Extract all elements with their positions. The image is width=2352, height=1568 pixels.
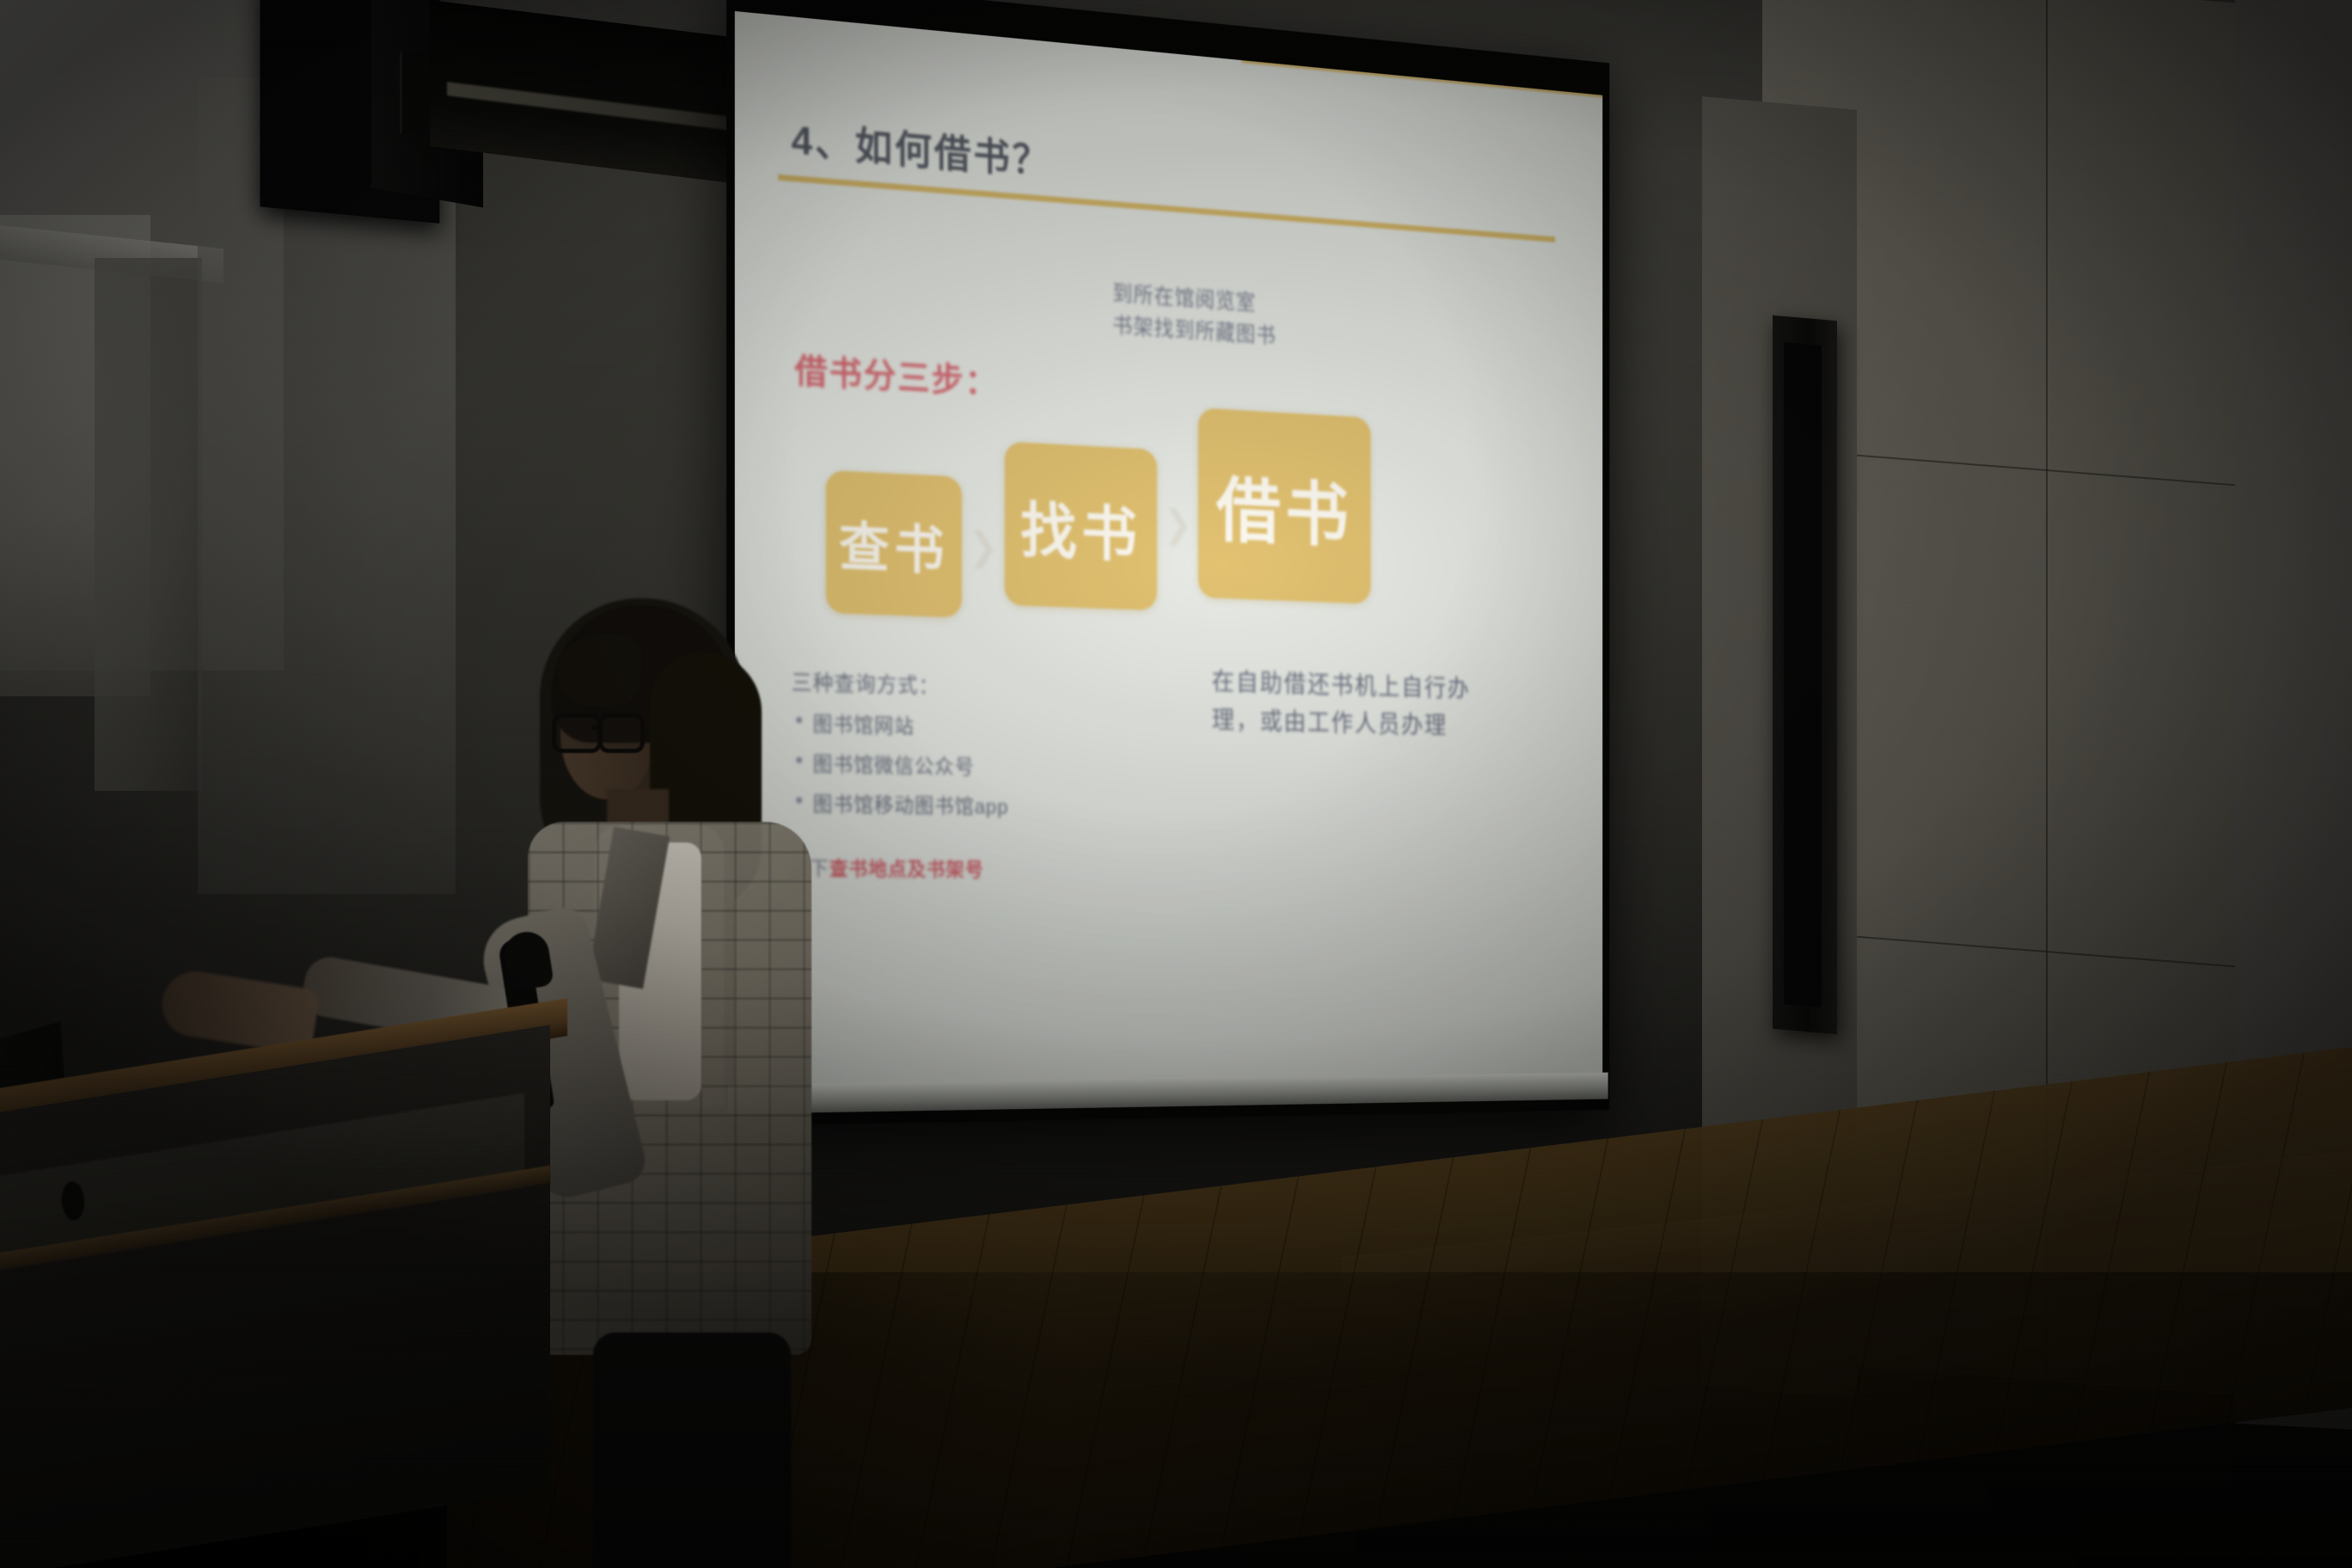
slide-note-right: 在自助借还书机上自行办理，或由工作人员办理 [1212, 664, 1498, 746]
slide-steps-row: 查书 ❯ 找书 ❯ 借书 [826, 360, 1554, 665]
trousers [593, 1332, 791, 1568]
lens-right [598, 714, 645, 753]
slide-top-accent-rule [1242, 55, 1603, 99]
step-arrow-icon: ❯ [962, 523, 1005, 570]
slide-note-top: 到所在馆阅览室 书架找到所藏图书 [1112, 277, 1277, 352]
wall-speaker-face [1784, 342, 1822, 1008]
lecture-hall-photo: 4、如何借书？ 到所在馆阅览室 书架找到所藏图书 借书分三步： 查书 ❯ 找书 … [0, 0, 2352, 1568]
presenter [499, 567, 885, 1568]
slide-title: 4、如何借书？ [791, 109, 1050, 187]
hair-fringe [557, 634, 641, 707]
step-box-3: 借书 [1198, 407, 1371, 603]
eyeglasses [552, 714, 646, 748]
left-pillar [95, 258, 202, 791]
lens-left [552, 714, 602, 753]
step-arrow-icon: ❯ [1157, 500, 1198, 547]
slide-divider-rule [778, 175, 1555, 242]
glasses-bridge [591, 726, 602, 730]
step-box-2: 找书 [1005, 441, 1157, 610]
